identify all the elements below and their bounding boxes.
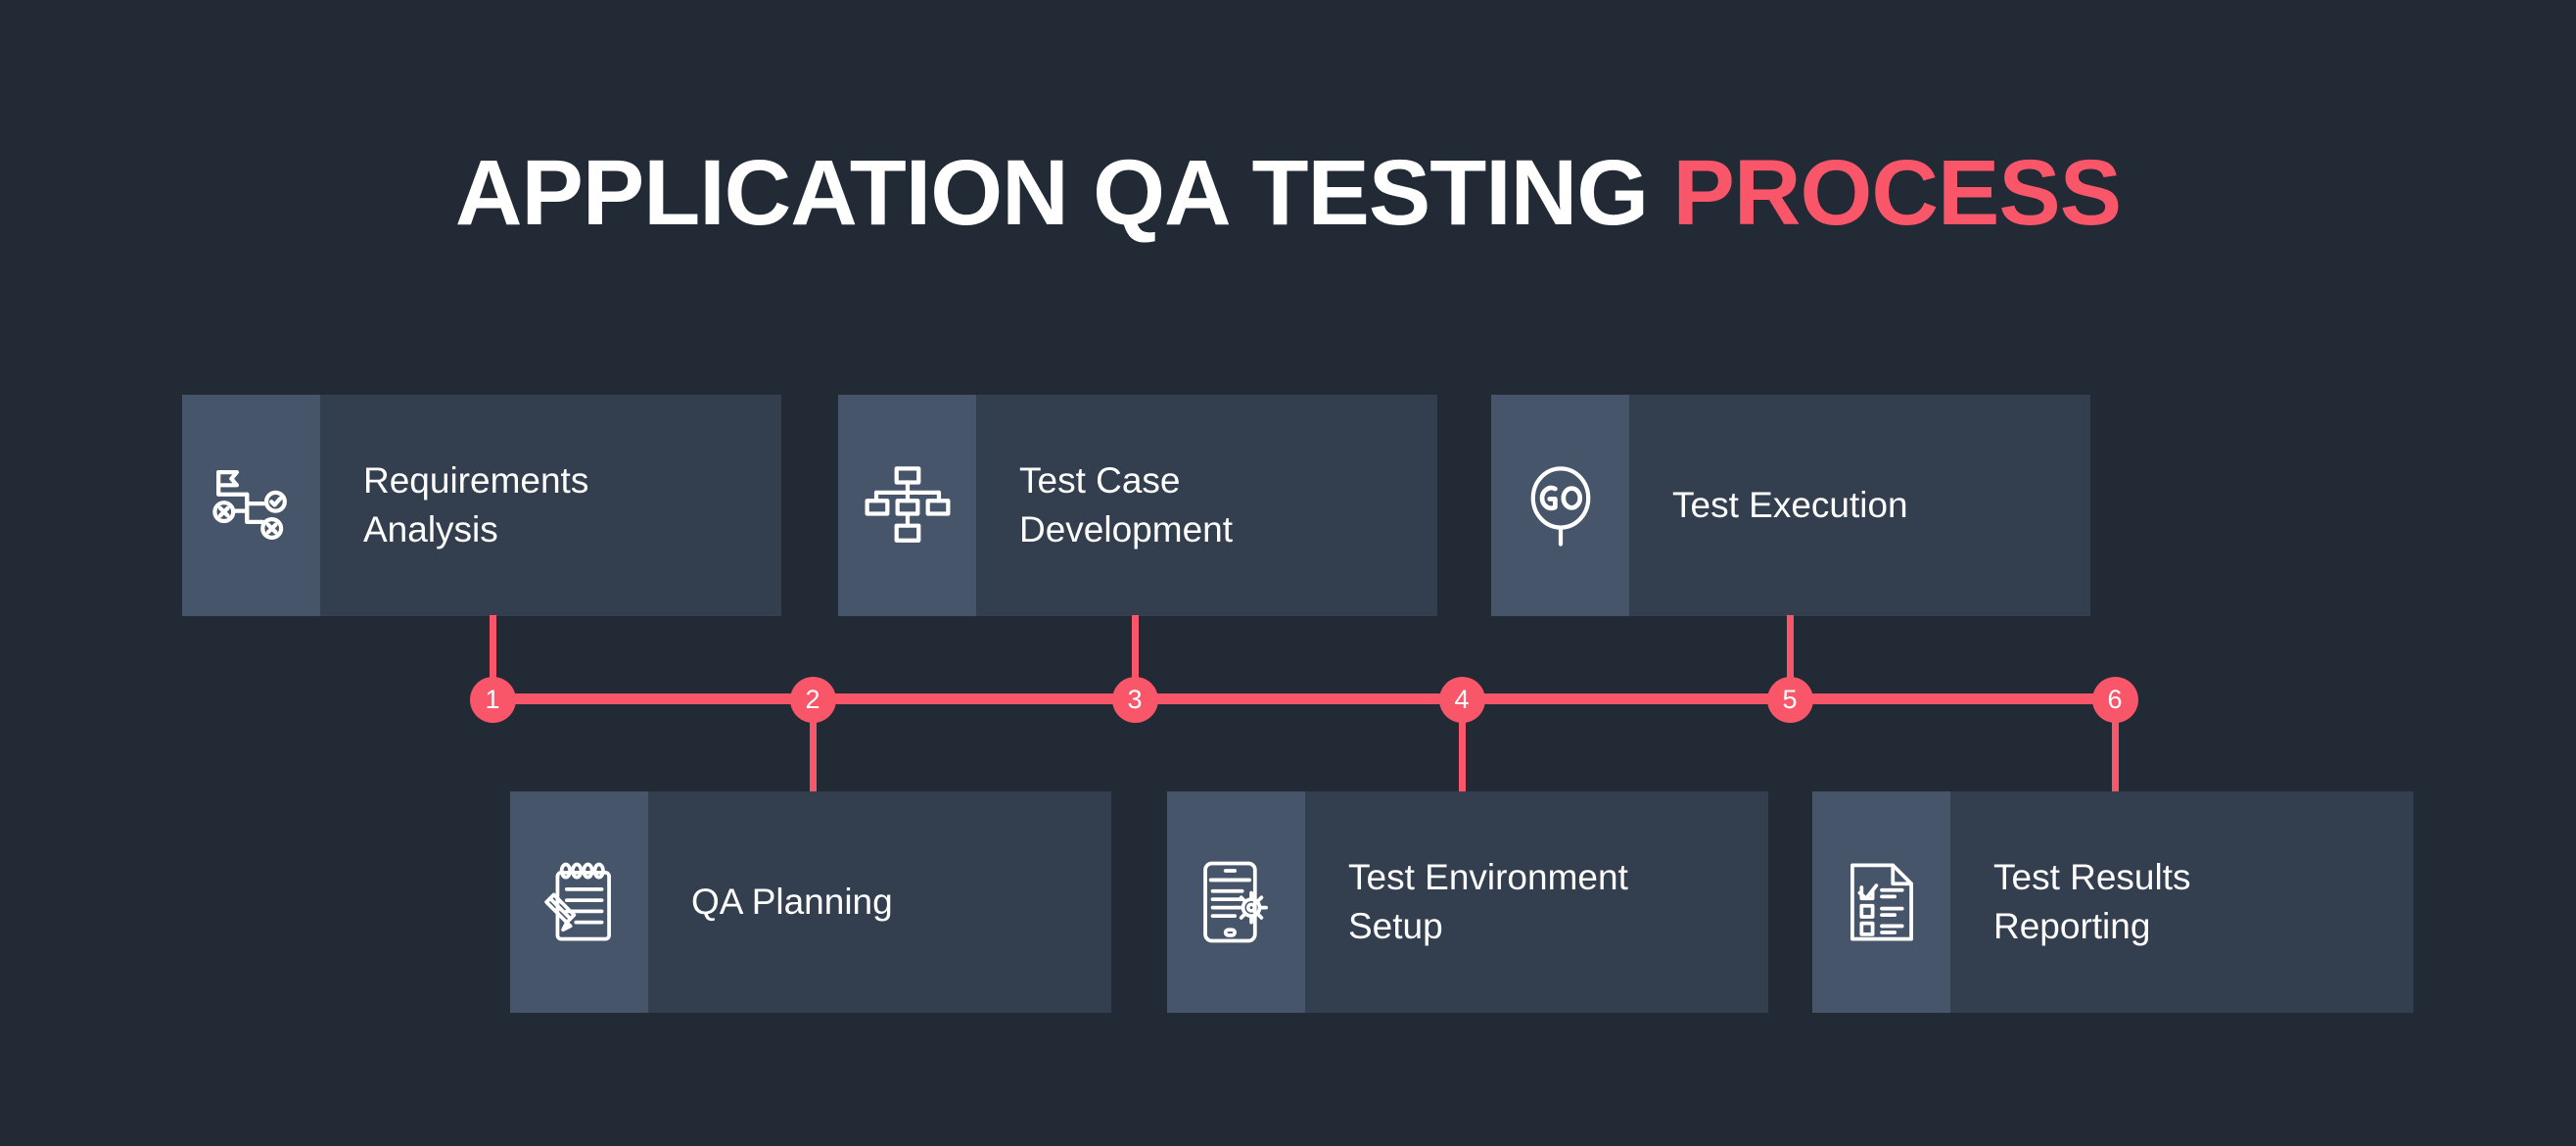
page-title-accent: PROCESS xyxy=(1673,141,2122,245)
infographic-canvas: APPLICATION QA TESTING PROCESS xyxy=(0,0,2576,1146)
timeline-stem-2 xyxy=(810,699,817,791)
timeline-stem-3 xyxy=(1132,615,1139,699)
page-title: APPLICATION QA TESTING PROCESS xyxy=(0,147,2576,240)
timeline-node-3[interactable]: 3 xyxy=(1112,677,1158,723)
timeline-stem-4 xyxy=(1459,699,1466,791)
notepad-pencil-icon xyxy=(510,791,648,1013)
timeline-node-2[interactable]: 2 xyxy=(790,677,836,723)
timeline-stem-6 xyxy=(2112,699,2119,791)
step-card-label: Test Case Development xyxy=(1019,456,1233,553)
step-card-body: Test Results Reporting xyxy=(1950,791,2413,1013)
step-card-test-case-development[interactable]: Test Case Development xyxy=(838,395,1437,616)
hierarchy-sitemap-icon xyxy=(838,395,976,616)
step-card-label: Requirements Analysis xyxy=(363,456,588,553)
timeline-node-1[interactable]: 1 xyxy=(470,677,516,723)
flowchart-decision-icon xyxy=(182,395,320,616)
step-card-body: Test Environment Setup xyxy=(1305,791,1768,1013)
timeline-node-4[interactable]: 4 xyxy=(1439,677,1485,723)
step-card-test-environment-setup[interactable]: Test Environment Setup xyxy=(1167,791,1768,1013)
step-card-test-results-reporting[interactable]: Test Results Reporting xyxy=(1812,791,2413,1013)
step-card-body: Test Execution xyxy=(1629,395,2090,616)
step-card-label: Test Execution xyxy=(1672,481,1908,530)
page-title-main: APPLICATION QA TESTING xyxy=(455,141,1673,245)
step-card-label: Test Results Reporting xyxy=(1993,853,2191,950)
timeline-stem-5 xyxy=(1787,615,1794,699)
step-card-qa-planning[interactable]: QA Planning xyxy=(510,791,1111,1013)
step-card-test-execution[interactable]: Test Execution xyxy=(1491,395,2090,616)
timeline-node-6[interactable]: 6 xyxy=(2092,677,2138,723)
step-card-body: Test Case Development xyxy=(976,395,1437,616)
timeline-spine xyxy=(492,693,2115,704)
smartphone-gear-icon xyxy=(1167,791,1305,1013)
step-card-label: QA Planning xyxy=(691,878,893,927)
document-checklist-icon xyxy=(1812,791,1950,1013)
step-card-body: QA Planning xyxy=(648,791,1111,1013)
go-sign-icon xyxy=(1491,395,1629,616)
timeline-node-5[interactable]: 5 xyxy=(1767,677,1813,723)
step-card-label: Test Environment Setup xyxy=(1348,853,1628,950)
step-card-requirements-analysis[interactable]: Requirements Analysis xyxy=(182,395,781,616)
timeline-stem-1 xyxy=(490,615,496,699)
step-card-body: Requirements Analysis xyxy=(320,395,781,616)
